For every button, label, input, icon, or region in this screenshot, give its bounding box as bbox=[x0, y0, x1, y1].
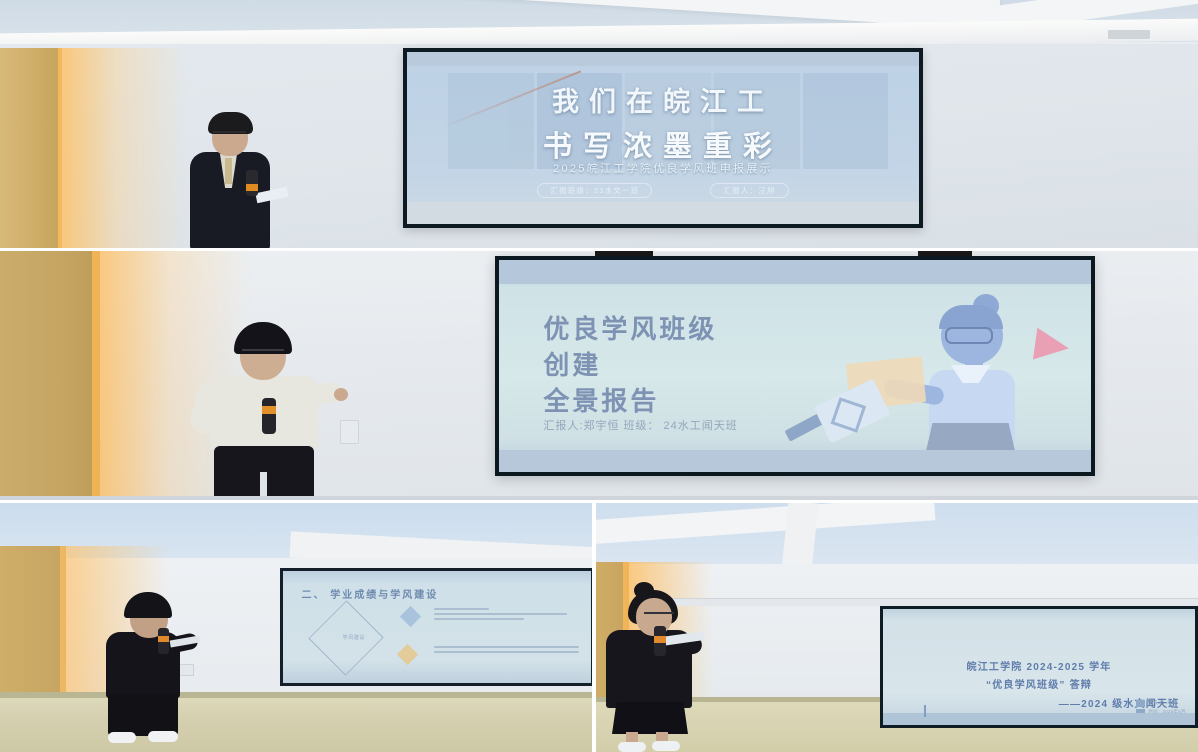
tag-marker-icon bbox=[1136, 700, 1145, 707]
wood-wall-panel bbox=[0, 48, 62, 250]
glasses-icon bbox=[213, 131, 246, 140]
presenter-panel-2 bbox=[196, 322, 336, 502]
ceiling-vent bbox=[1108, 30, 1150, 39]
cove-light bbox=[58, 48, 188, 250]
projection-screen-2: 优良学风班级 创建 全景报告 汇报人:郑宇恒 班级： 24水工闻天班 bbox=[495, 256, 1095, 476]
panel-middle: 优良学风班级 创建 全景报告 汇报人:郑宇恒 班级： 24水工闻天班 bbox=[0, 250, 1198, 502]
microphone-icon bbox=[262, 398, 276, 434]
microphone-band bbox=[262, 406, 276, 414]
slide-line-2: “优良学风班级” 答辩 bbox=[883, 676, 1195, 691]
hair bbox=[124, 592, 172, 618]
slide-bottom-band bbox=[499, 450, 1091, 472]
illustration-glasses-icon bbox=[945, 327, 993, 344]
slide-bullet-marker-blue bbox=[400, 606, 421, 627]
projection-screen-4: 皖江工学院 2024-2025 学年 “优良学风班级” 答辩 ——2024 级水… bbox=[880, 606, 1198, 734]
shoe-right bbox=[148, 731, 178, 742]
slide-pill-class: 汇报班级：23水文一班 bbox=[537, 183, 652, 198]
slide-pill-speaker: 汇报人：汪旭 bbox=[710, 183, 788, 198]
glasses-icon bbox=[242, 349, 284, 359]
wall-outlet bbox=[340, 420, 359, 444]
photo-collage: 我们在皖江工 书写浓墨重彩 2025皖江工学院优良学风班申报展示 汇报班级：23… bbox=[0, 0, 1198, 752]
slide-bottom-band bbox=[883, 713, 1195, 725]
glasses-icon bbox=[644, 612, 674, 621]
slide-title-line1: 我们在皖江工 bbox=[407, 80, 919, 119]
slide-subtitle: 2025皖江工学院优良学风班申报展示 bbox=[407, 160, 919, 176]
slide-text-block-2 bbox=[434, 646, 579, 656]
slide-line-1: 皖江工学院 2024-2025 学年 bbox=[883, 658, 1195, 673]
slide-top-band bbox=[499, 260, 1091, 284]
wood-wall-panel bbox=[0, 250, 100, 502]
slide-tag-1: 汇报人：周涵 bbox=[1148, 700, 1176, 706]
slide-text-block-1 bbox=[434, 608, 579, 623]
tie bbox=[225, 158, 232, 184]
projection-screen-3: 二、 学业成绩与学风建设 学风建设 bbox=[280, 568, 594, 690]
microphone-band bbox=[654, 636, 666, 643]
panel-divider-horizontal bbox=[0, 500, 1198, 503]
skirt bbox=[612, 702, 688, 734]
slide-title-line1: 优良学风班级 bbox=[543, 309, 717, 346]
slide-title-line2: 创建 bbox=[543, 345, 601, 382]
microphone-icon bbox=[246, 170, 258, 196]
slide-title-line3: 全景报告 bbox=[543, 381, 659, 418]
slide-subtitle: 汇报人:郑宇恒 班级： 24水工闻天班 bbox=[543, 417, 737, 433]
slide-diagram-label: 学风建设 bbox=[323, 634, 385, 641]
shoe-left bbox=[108, 732, 136, 743]
panel-divider-vertical bbox=[592, 500, 596, 752]
panel-divider-horizontal bbox=[0, 248, 1198, 251]
presenter-panel-3 bbox=[98, 592, 194, 744]
slide-illustration-person bbox=[860, 294, 1061, 459]
slide-bullet-marker-orange bbox=[397, 644, 418, 665]
trousers bbox=[108, 694, 178, 736]
illustration-hair bbox=[939, 305, 1003, 329]
shoe-left bbox=[618, 742, 646, 752]
hand bbox=[334, 388, 348, 401]
screen-mount-rail bbox=[655, 598, 1198, 606]
microphone-band bbox=[158, 636, 169, 642]
presenter-panel-1 bbox=[172, 112, 282, 250]
slide-bottom-band bbox=[407, 202, 919, 224]
slide-accent-tick bbox=[924, 705, 926, 717]
floor bbox=[0, 698, 594, 752]
microphone-band bbox=[246, 184, 258, 191]
slide-top-band bbox=[407, 52, 919, 66]
panel-top: 我们在皖江工 书写浓墨重彩 2025皖江工学院优良学风班申报展示 汇报班级：23… bbox=[0, 0, 1198, 250]
presenter-panel-4 bbox=[600, 582, 708, 752]
projection-screen-1: 我们在皖江工 书写浓墨重彩 2025皖江工学院优良学风班申报展示 汇报班级：23… bbox=[403, 48, 923, 228]
slide-pill-row: 汇报班级：23水文一班 汇报人：汪旭 bbox=[407, 183, 919, 198]
wood-wall-panel bbox=[0, 546, 66, 702]
slide-heading: 二、 学业成绩与学风建设 bbox=[301, 586, 438, 601]
shoe-right bbox=[652, 741, 680, 751]
slide-title-line2: 书写浓墨重彩 bbox=[407, 123, 919, 165]
triangle-shape-icon bbox=[1033, 328, 1071, 364]
